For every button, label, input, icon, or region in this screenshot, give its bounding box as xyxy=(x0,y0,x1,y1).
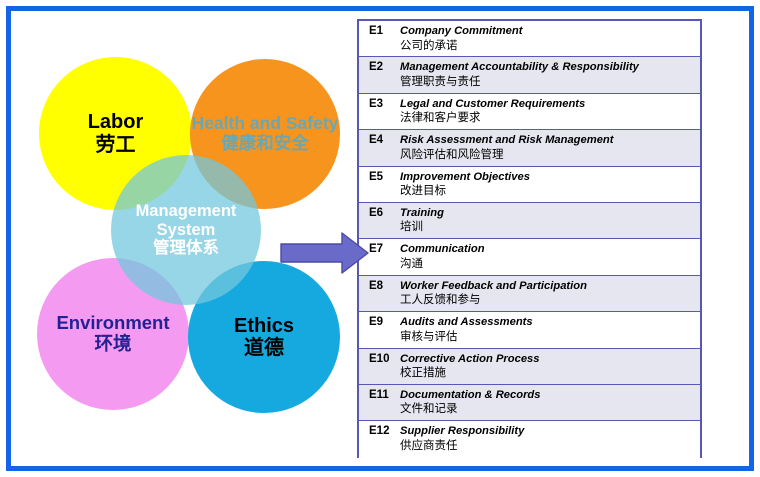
table-row[interactable]: E11 Documentation & Records 文件和记录 xyxy=(359,385,700,421)
slide-canvas: Labor 劳工 Health and Safety 健康和安全 Environ… xyxy=(0,0,760,477)
table-row[interactable]: E10 Corrective Action Process 校正措施 xyxy=(359,349,700,385)
elements-table: E1 Company Commitment 公司的承诺 E2 Managemen… xyxy=(357,19,702,458)
venn-circle-labor-label-zh: 劳工 xyxy=(96,134,136,156)
row-label-zh: 公司的承诺 xyxy=(400,39,696,54)
row-code: E6 xyxy=(359,206,400,221)
row-text: Supplier Responsibility 供应商责任 xyxy=(400,424,700,453)
row-label-en: Training xyxy=(400,206,696,221)
row-label-en: Improvement Objectives xyxy=(400,170,696,185)
venn-circle-management-system[interactable]: Management System 管理体系 xyxy=(111,155,261,305)
table-row[interactable]: E12 Supplier Responsibility 供应商责任 xyxy=(359,421,700,457)
row-label-zh: 风险评估和风险管理 xyxy=(400,148,696,163)
row-text: Risk Assessment and Risk Management 风险评估… xyxy=(400,133,700,162)
venn-circle-environment-label-en: Environment xyxy=(56,313,169,334)
row-label-en: Company Commitment xyxy=(400,24,696,39)
row-code: E3 xyxy=(359,97,400,112)
table-row[interactable]: E7 Communication 沟通 xyxy=(359,239,700,275)
table-row[interactable]: E1 Company Commitment 公司的承诺 xyxy=(359,21,700,57)
row-code: E4 xyxy=(359,133,400,148)
row-label-zh: 管理职责与责任 xyxy=(400,75,696,90)
row-text: Improvement Objectives 改进目标 xyxy=(400,170,700,199)
row-text: Communication 沟通 xyxy=(400,242,700,271)
row-label-en: Management Accountability & Responsibili… xyxy=(400,60,696,75)
row-code: E5 xyxy=(359,170,400,185)
venn-circle-environment-label-zh: 环境 xyxy=(94,334,131,355)
row-label-zh: 改进目标 xyxy=(400,184,696,199)
right-arrow-icon xyxy=(280,231,370,275)
table-row[interactable]: E5 Improvement Objectives 改进目标 xyxy=(359,167,700,203)
row-code: E12 xyxy=(359,424,400,439)
row-label-en: Documentation & Records xyxy=(400,388,696,403)
venn-circle-health-and-safety-label-zh: 健康和安全 xyxy=(221,134,309,154)
table-row[interactable]: E6 Training 培训 xyxy=(359,203,700,239)
row-label-en: Legal and Customer Requirements xyxy=(400,97,696,112)
row-label-en: Communication xyxy=(400,242,696,257)
table-row[interactable]: E4 Risk Assessment and Risk Management 风… xyxy=(359,130,700,166)
row-label-zh: 审核与评估 xyxy=(400,330,696,345)
venn-circle-ethics-label-zh: 道德 xyxy=(244,337,284,359)
row-code: E2 xyxy=(359,60,400,75)
row-label-en: Supplier Responsibility xyxy=(400,424,696,439)
row-label-zh: 法律和客户要求 xyxy=(400,111,696,126)
row-label-zh: 校正措施 xyxy=(400,366,696,381)
row-text: Management Accountability & Responsibili… xyxy=(400,60,700,89)
row-text: Legal and Customer Requirements 法律和客户要求 xyxy=(400,97,700,126)
table-row[interactable]: E2 Management Accountability & Responsib… xyxy=(359,57,700,93)
venn-circle-labor-label-en: Labor xyxy=(88,111,144,133)
row-text: Audits and Assessments 审核与评估 xyxy=(400,315,700,344)
venn-circle-ethics-label-en: Ethics xyxy=(234,315,294,337)
table-row[interactable]: E3 Legal and Customer Requirements 法律和客户… xyxy=(359,94,700,130)
venn-circle-management-system-label-en-line2: System xyxy=(157,221,216,239)
row-code: E8 xyxy=(359,279,400,294)
row-label-zh: 沟通 xyxy=(400,257,696,272)
row-text: Training 培训 xyxy=(400,206,700,235)
row-label-zh: 工人反馈和参与 xyxy=(400,293,696,308)
row-code: E11 xyxy=(359,388,400,403)
row-label-en: Corrective Action Process xyxy=(400,352,696,367)
row-code: E9 xyxy=(359,315,400,330)
row-label-en: Audits and Assessments xyxy=(400,315,696,330)
row-text: Documentation & Records 文件和记录 xyxy=(400,388,700,417)
row-text: Company Commitment 公司的承诺 xyxy=(400,24,700,53)
venn-circle-management-system-label-en-line1: Management xyxy=(136,202,237,220)
row-label-en: Risk Assessment and Risk Management xyxy=(400,133,696,148)
venn-circle-health-and-safety-label-en: Health and Safety xyxy=(192,114,339,134)
row-code: E1 xyxy=(359,24,400,39)
row-label-zh: 供应商责任 xyxy=(400,439,696,454)
row-label-zh: 文件和记录 xyxy=(400,402,696,417)
table-row[interactable]: E9 Audits and Assessments 审核与评估 xyxy=(359,312,700,348)
row-text: Worker Feedback and Participation 工人反馈和参… xyxy=(400,279,700,308)
row-text: Corrective Action Process 校正措施 xyxy=(400,352,700,381)
row-code: E10 xyxy=(359,352,400,367)
social-responsibility-venn: Labor 劳工 Health and Safety 健康和安全 Environ… xyxy=(18,18,348,459)
row-label-en: Worker Feedback and Participation xyxy=(400,279,696,294)
table-row[interactable]: E8 Worker Feedback and Participation 工人反… xyxy=(359,276,700,312)
venn-circle-management-system-label-zh: 管理体系 xyxy=(153,239,219,257)
row-label-zh: 培训 xyxy=(400,220,696,235)
